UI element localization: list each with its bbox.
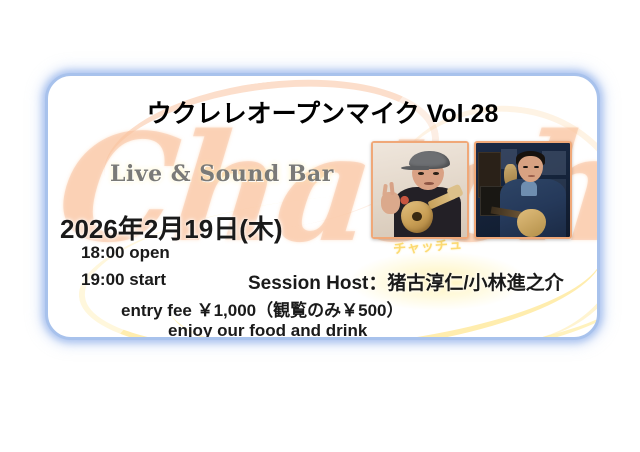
- portrait-eye-right: [433, 172, 439, 175]
- portrait-finger-b: [389, 182, 394, 195]
- start-time: 19:00 start: [81, 270, 166, 290]
- portrait-eye-left: [418, 172, 424, 175]
- ukulele-soundhole: [412, 212, 421, 221]
- session-host: Session Host：猪古淳仁/小林進之介: [248, 268, 564, 295]
- entry-fee: entry fee ￥1,000（観覧のみ￥500）: [121, 296, 404, 321]
- host-photo-2: [474, 141, 572, 239]
- background-panel-right-top: [542, 151, 566, 175]
- food-drink-note: enjoy our food and drink: [168, 321, 367, 340]
- ukulele-body: [517, 209, 545, 237]
- portrait-mouth: [528, 175, 536, 177]
- page-title: ウクレレオープンマイク Vol.28: [48, 94, 597, 130]
- event-date: 2026年2月19日(木): [60, 209, 283, 246]
- venue-tagline: Live & Sound Bar: [110, 161, 334, 187]
- portrait-eye-right: [534, 166, 539, 168]
- photo-strip: [371, 141, 572, 239]
- flat-cap-brim: [401, 166, 429, 171]
- open-time: 18:00 open: [81, 243, 170, 263]
- portrait-inner-shirt: [521, 181, 537, 196]
- portrait-eye-left: [523, 166, 528, 168]
- flyer-card: Chatch チャッチュ ウクレレオープンマイク Vol.28 Live & S…: [45, 73, 600, 340]
- host-photo-1: [371, 141, 469, 239]
- host-portrait-image-1: [373, 143, 467, 237]
- host-portrait-image-2: [476, 143, 570, 237]
